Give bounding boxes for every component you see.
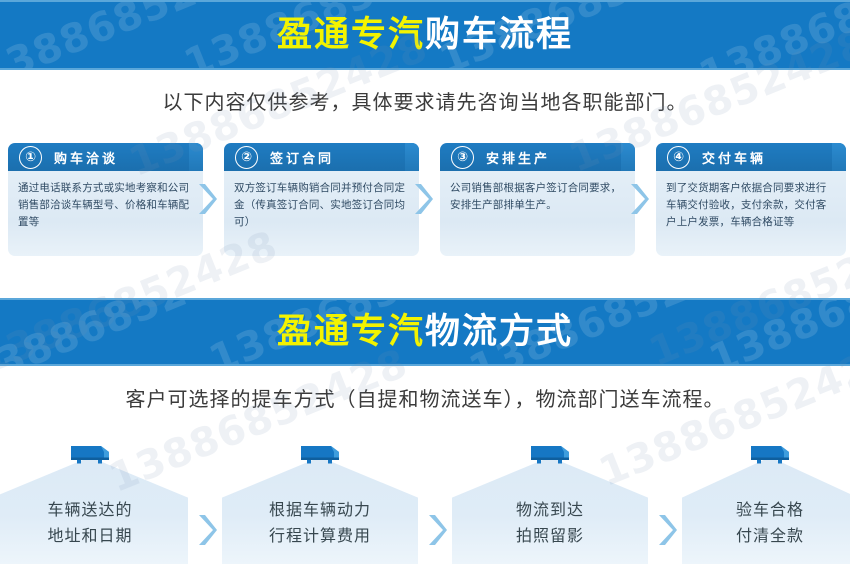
logistics-card-4-line1: 验车合格 <box>682 497 850 523</box>
logistics-card-3-text: 物流到达 拍照留影 <box>452 497 648 550</box>
step-card-2-body: 双方签订车辆购销合同并预付合同定金（传真签订合同、实地签订合同均可） <box>224 171 419 256</box>
chevron-right-icon <box>656 513 678 547</box>
purchase-process-subtitle: 以下内容仅供参考，具体要求请先咨询当地各职能部门。 <box>0 86 850 115</box>
chevron-right-icon <box>196 182 218 216</box>
banner1-heading-text: 购车流程 <box>425 15 573 55</box>
logistics-card-2-text: 根据车辆动力 行程计算费用 <box>222 497 418 550</box>
logistics-card-4[interactable]: 验车合格 付清全款 <box>682 457 850 564</box>
truck-icon <box>747 443 793 467</box>
step-number-badge: ③ <box>451 146 474 169</box>
step-card-3-title: 安排生产 <box>486 148 550 167</box>
logistics-card-1-line1: 车辆送达的 <box>0 497 188 523</box>
step-card-2-header: ② 签订合同 <box>224 143 419 171</box>
logistics-card-2[interactable]: 根据车辆动力 行程计算费用 <box>222 457 418 564</box>
step-card-2[interactable]: ② 签订合同 双方签订车辆购销合同并预付合同定金（传真签订合同、实地签订合同均可… <box>224 143 419 256</box>
logistics-card-1-line2: 地址和日期 <box>0 523 188 549</box>
step-card-3[interactable]: ③ 安排生产 公司销售部根据客户签订合同要求，安排生产部排单生产。 <box>440 143 635 256</box>
marketing-infographic-page: 13886852428 13886852428 13886852428 1388… <box>0 0 850 564</box>
logistics-card-2-line2: 行程计算费用 <box>222 523 418 549</box>
truck-icon <box>297 443 343 467</box>
banner2-heading-text: 物流方式 <box>425 312 573 352</box>
chevron-right-icon <box>628 182 650 216</box>
truck-icon <box>67 443 113 467</box>
step-number-badge: ② <box>235 146 258 169</box>
step-card-3-body: 公司销售部根据客户签订合同要求，安排生产部排单生产。 <box>440 171 635 256</box>
logistics-card-3[interactable]: 物流到达 拍照留影 <box>452 457 648 564</box>
step-number-badge: ④ <box>667 146 690 169</box>
logistics-card-4-line2: 付清全款 <box>682 523 850 549</box>
logistics-card-1-text: 车辆送达的 地址和日期 <box>0 497 188 550</box>
chevron-right-icon <box>196 513 218 547</box>
step-card-1[interactable]: ① 购车洽谈 通过电话联系方式或实地考察和公司销售部洽谈车辆型号、价格和车辆配置… <box>8 143 203 256</box>
truck-icon <box>527 443 573 467</box>
step-card-4-title: 交付车辆 <box>702 148 766 167</box>
chevron-right-icon <box>426 513 448 547</box>
banner1-title: 盈通专汽购车流程 <box>277 18 573 53</box>
step-card-1-header: ① 购车洽谈 <box>8 143 203 171</box>
logistics-card-3-line2: 拍照留影 <box>452 523 648 549</box>
step-card-2-title: 签订合同 <box>270 148 334 167</box>
step-card-4-header: ④ 交付车辆 <box>656 143 846 171</box>
purchase-process-banner: 13886852428 13886852428 13886852428 1388… <box>0 0 850 70</box>
logistics-subtitle: 客户可选择的提车方式（自提和物流送车），物流部门送车流程。 <box>0 383 850 412</box>
step-card-4-body: 到了交货期客户依据合同要求进行车辆交付验收，支付余款，交付客户上户发票，车辆合格… <box>656 171 846 256</box>
logistics-card-4-text: 验车合格 付清全款 <box>682 497 850 550</box>
banner2-brand-text: 盈通专汽 <box>277 312 425 352</box>
step-card-1-title: 购车洽谈 <box>54 148 118 167</box>
logistics-steps: 车辆送达的 地址和日期 根据车辆动力 行程计算费用 <box>0 440 850 564</box>
step-card-3-header: ③ 安排生产 <box>440 143 635 171</box>
logistics-banner: 13886852428 13886852428 13886852428 1388… <box>0 298 850 366</box>
step-card-4[interactable]: ④ 交付车辆 到了交货期客户依据合同要求进行车辆交付验收，支付余款，交付客户上户… <box>656 143 846 256</box>
logistics-card-1[interactable]: 车辆送达的 地址和日期 <box>0 457 188 564</box>
step-number-badge: ① <box>19 146 42 169</box>
banner2-title: 盈通专汽物流方式 <box>277 315 573 350</box>
logistics-card-3-line1: 物流到达 <box>452 497 648 523</box>
logistics-card-2-line1: 根据车辆动力 <box>222 497 418 523</box>
banner1-brand-text: 盈通专汽 <box>277 15 425 55</box>
chevron-right-icon <box>412 182 434 216</box>
step-card-1-body: 通过电话联系方式或实地考察和公司销售部洽谈车辆型号、价格和车辆配置等 <box>8 171 203 256</box>
purchase-process-steps: ① 购车洽谈 通过电话联系方式或实地考察和公司销售部洽谈车辆型号、价格和车辆配置… <box>0 143 850 263</box>
